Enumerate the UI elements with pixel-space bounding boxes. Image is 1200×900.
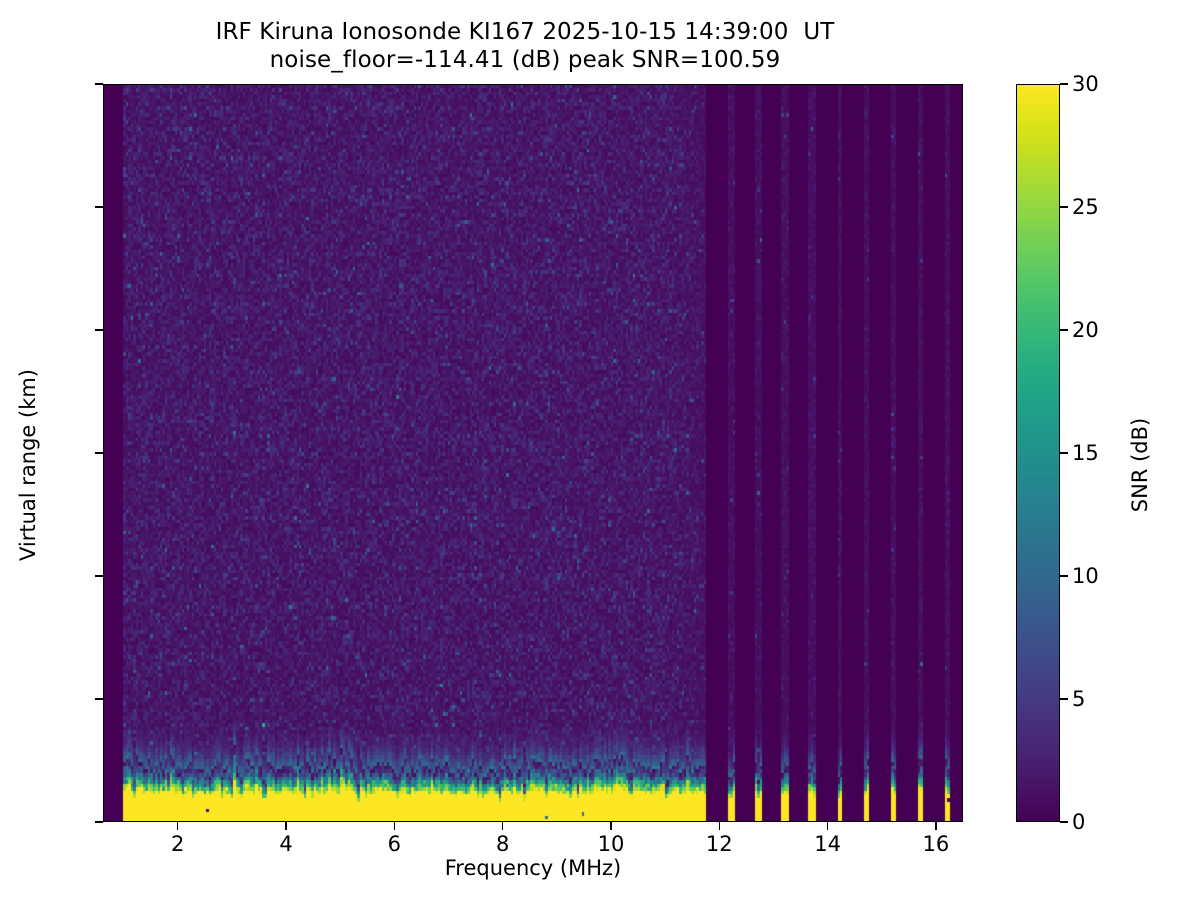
- title-line-2: noise_floor=-114.41 (dB) peak SNR=100.59: [0, 46, 1050, 74]
- y-axis-tick-mark: [95, 329, 103, 330]
- colorbar-tick-mark: [1060, 821, 1068, 822]
- y-axis-tick-mark: [95, 575, 103, 576]
- y-axis-tick-mark: [95, 206, 103, 207]
- x-axis-tick-label: 8: [443, 832, 563, 856]
- x-axis-tick-label: 4: [226, 832, 346, 856]
- colorbar-tick-mark: [1060, 83, 1068, 84]
- ionogram-heatmap: [104, 85, 963, 822]
- colorbar-tick-label: 0: [1072, 810, 1192, 834]
- colorbar-tick-label: 30: [1072, 72, 1192, 96]
- colorbar-tick-mark: [1060, 206, 1068, 207]
- ionogram-axes: [103, 84, 963, 822]
- colorbar-label: SNR (dB): [1128, 185, 1152, 745]
- x-axis-tick-mark: [935, 822, 936, 830]
- x-axis-tick-label: 16: [876, 832, 996, 856]
- x-axis-tick-label: 12: [659, 832, 779, 856]
- plot-title: IRF Kiruna Ionosonde KI167 2025-10-15 14…: [0, 18, 1050, 74]
- title-line-1: IRF Kiruna Ionosonde KI167 2025-10-15 14…: [0, 18, 1050, 46]
- x-axis-tick-label: 2: [118, 832, 238, 856]
- colorbar-tick-mark: [1060, 452, 1068, 453]
- x-axis-tick-label: 6: [334, 832, 454, 856]
- y-axis-tick-mark: [95, 452, 103, 453]
- x-axis-tick-mark: [502, 822, 503, 830]
- colorbar: [1016, 84, 1060, 822]
- x-axis-tick-label: 14: [768, 832, 888, 856]
- colorbar-gradient: [1017, 85, 1060, 822]
- y-axis-tick-mark: [95, 698, 103, 699]
- x-axis-tick-mark: [394, 822, 395, 830]
- x-axis-tick-mark: [610, 822, 611, 830]
- x-axis-label: Frequency (MHz): [103, 856, 963, 880]
- colorbar-tick-mark: [1060, 698, 1068, 699]
- x-axis-tick-mark: [719, 822, 720, 830]
- colorbar-tick-mark: [1060, 329, 1068, 330]
- x-axis-tick-mark: [827, 822, 828, 830]
- y-axis-tick-mark: [95, 821, 103, 822]
- x-axis-tick-label: 10: [551, 832, 671, 856]
- y-axis-tick-mark: [95, 83, 103, 84]
- x-axis-tick-mark: [177, 822, 178, 830]
- x-axis-tick-mark: [285, 822, 286, 830]
- y-axis-label: Virtual range (km): [16, 185, 40, 745]
- ionogram-figure: IRF Kiruna Ionosonde KI167 2025-10-15 14…: [0, 0, 1200, 900]
- colorbar-tick-mark: [1060, 575, 1068, 576]
